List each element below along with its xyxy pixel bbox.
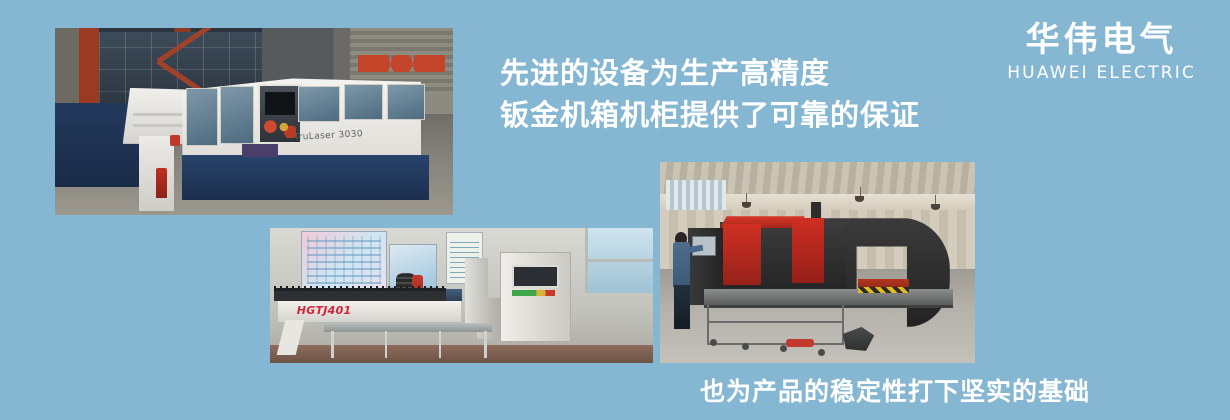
- company-equipment-banner: TruLaser 3030 HGTJ401: [0, 0, 1230, 420]
- enclosure-window: [387, 84, 425, 120]
- indicator-lights: [512, 290, 555, 296]
- left-cabinet: [55, 103, 139, 187]
- fire-extinguisher: [156, 168, 166, 198]
- headline: 先进的设备为生产高精度 钣金机箱机柜提供了可靠的保证: [500, 52, 1000, 136]
- workshop-floor: [270, 345, 653, 363]
- caster-wheel: [780, 345, 787, 352]
- enclosure-window: [344, 84, 384, 120]
- clerestory-windows: [666, 180, 726, 212]
- work-bench: [324, 323, 493, 332]
- photo-cnc-cutting-machine: HGTJ401: [270, 228, 653, 363]
- red-panel: [792, 218, 824, 282]
- bench-leg: [385, 331, 388, 358]
- red-panel: [723, 224, 761, 284]
- bench-leg: [439, 331, 442, 358]
- emergency-stop: [170, 135, 180, 146]
- company-logo: 华伟电气 HUAWEI ELECTRIC: [1007, 20, 1196, 84]
- sheet-clamp-unit: [858, 279, 908, 293]
- panel-buttons: [264, 119, 296, 138]
- cnc-screen: [512, 265, 559, 288]
- machine-base: [182, 155, 429, 200]
- bench-leg: [484, 331, 487, 358]
- door-diamond-pattern: [358, 55, 445, 73]
- enclosure-window: [186, 88, 218, 146]
- sheet-metal-table: [704, 289, 953, 305]
- subline: 也为产品的稳定性打下坚实的基础: [700, 375, 1090, 409]
- table-support-frame: [707, 305, 843, 345]
- roof-brace: [158, 34, 222, 86]
- tool-cart: [242, 144, 278, 157]
- caster-wheel: [818, 349, 825, 356]
- workshop-window: [585, 228, 653, 293]
- enclosure-window: [220, 86, 254, 144]
- caster-wheel: [742, 343, 749, 350]
- machine-model-label: HGTJ401: [297, 304, 352, 317]
- operator-legs: [674, 285, 690, 329]
- panel-screen: [265, 92, 295, 116]
- logo-english-name: HUAWEI ELECTRIC: [1007, 62, 1196, 84]
- cutting-bed: [274, 291, 446, 300]
- wall-poster-chart: [301, 231, 387, 290]
- enclosure-window: [298, 86, 340, 122]
- bench-leg: [331, 331, 334, 358]
- headline-line-2: 钣金机箱机柜提供了可靠的保证: [500, 94, 1000, 136]
- photo-laser-cutting-machine: TruLaser 3030: [55, 28, 453, 215]
- photo-cnc-turret-punch-press: [660, 162, 975, 363]
- red-cable: [786, 339, 814, 347]
- control-cabinet: [500, 252, 571, 342]
- logo-chinese-name: 华伟电气: [1007, 20, 1196, 60]
- headline-line-1: 先进的设备为生产高精度: [500, 52, 1000, 94]
